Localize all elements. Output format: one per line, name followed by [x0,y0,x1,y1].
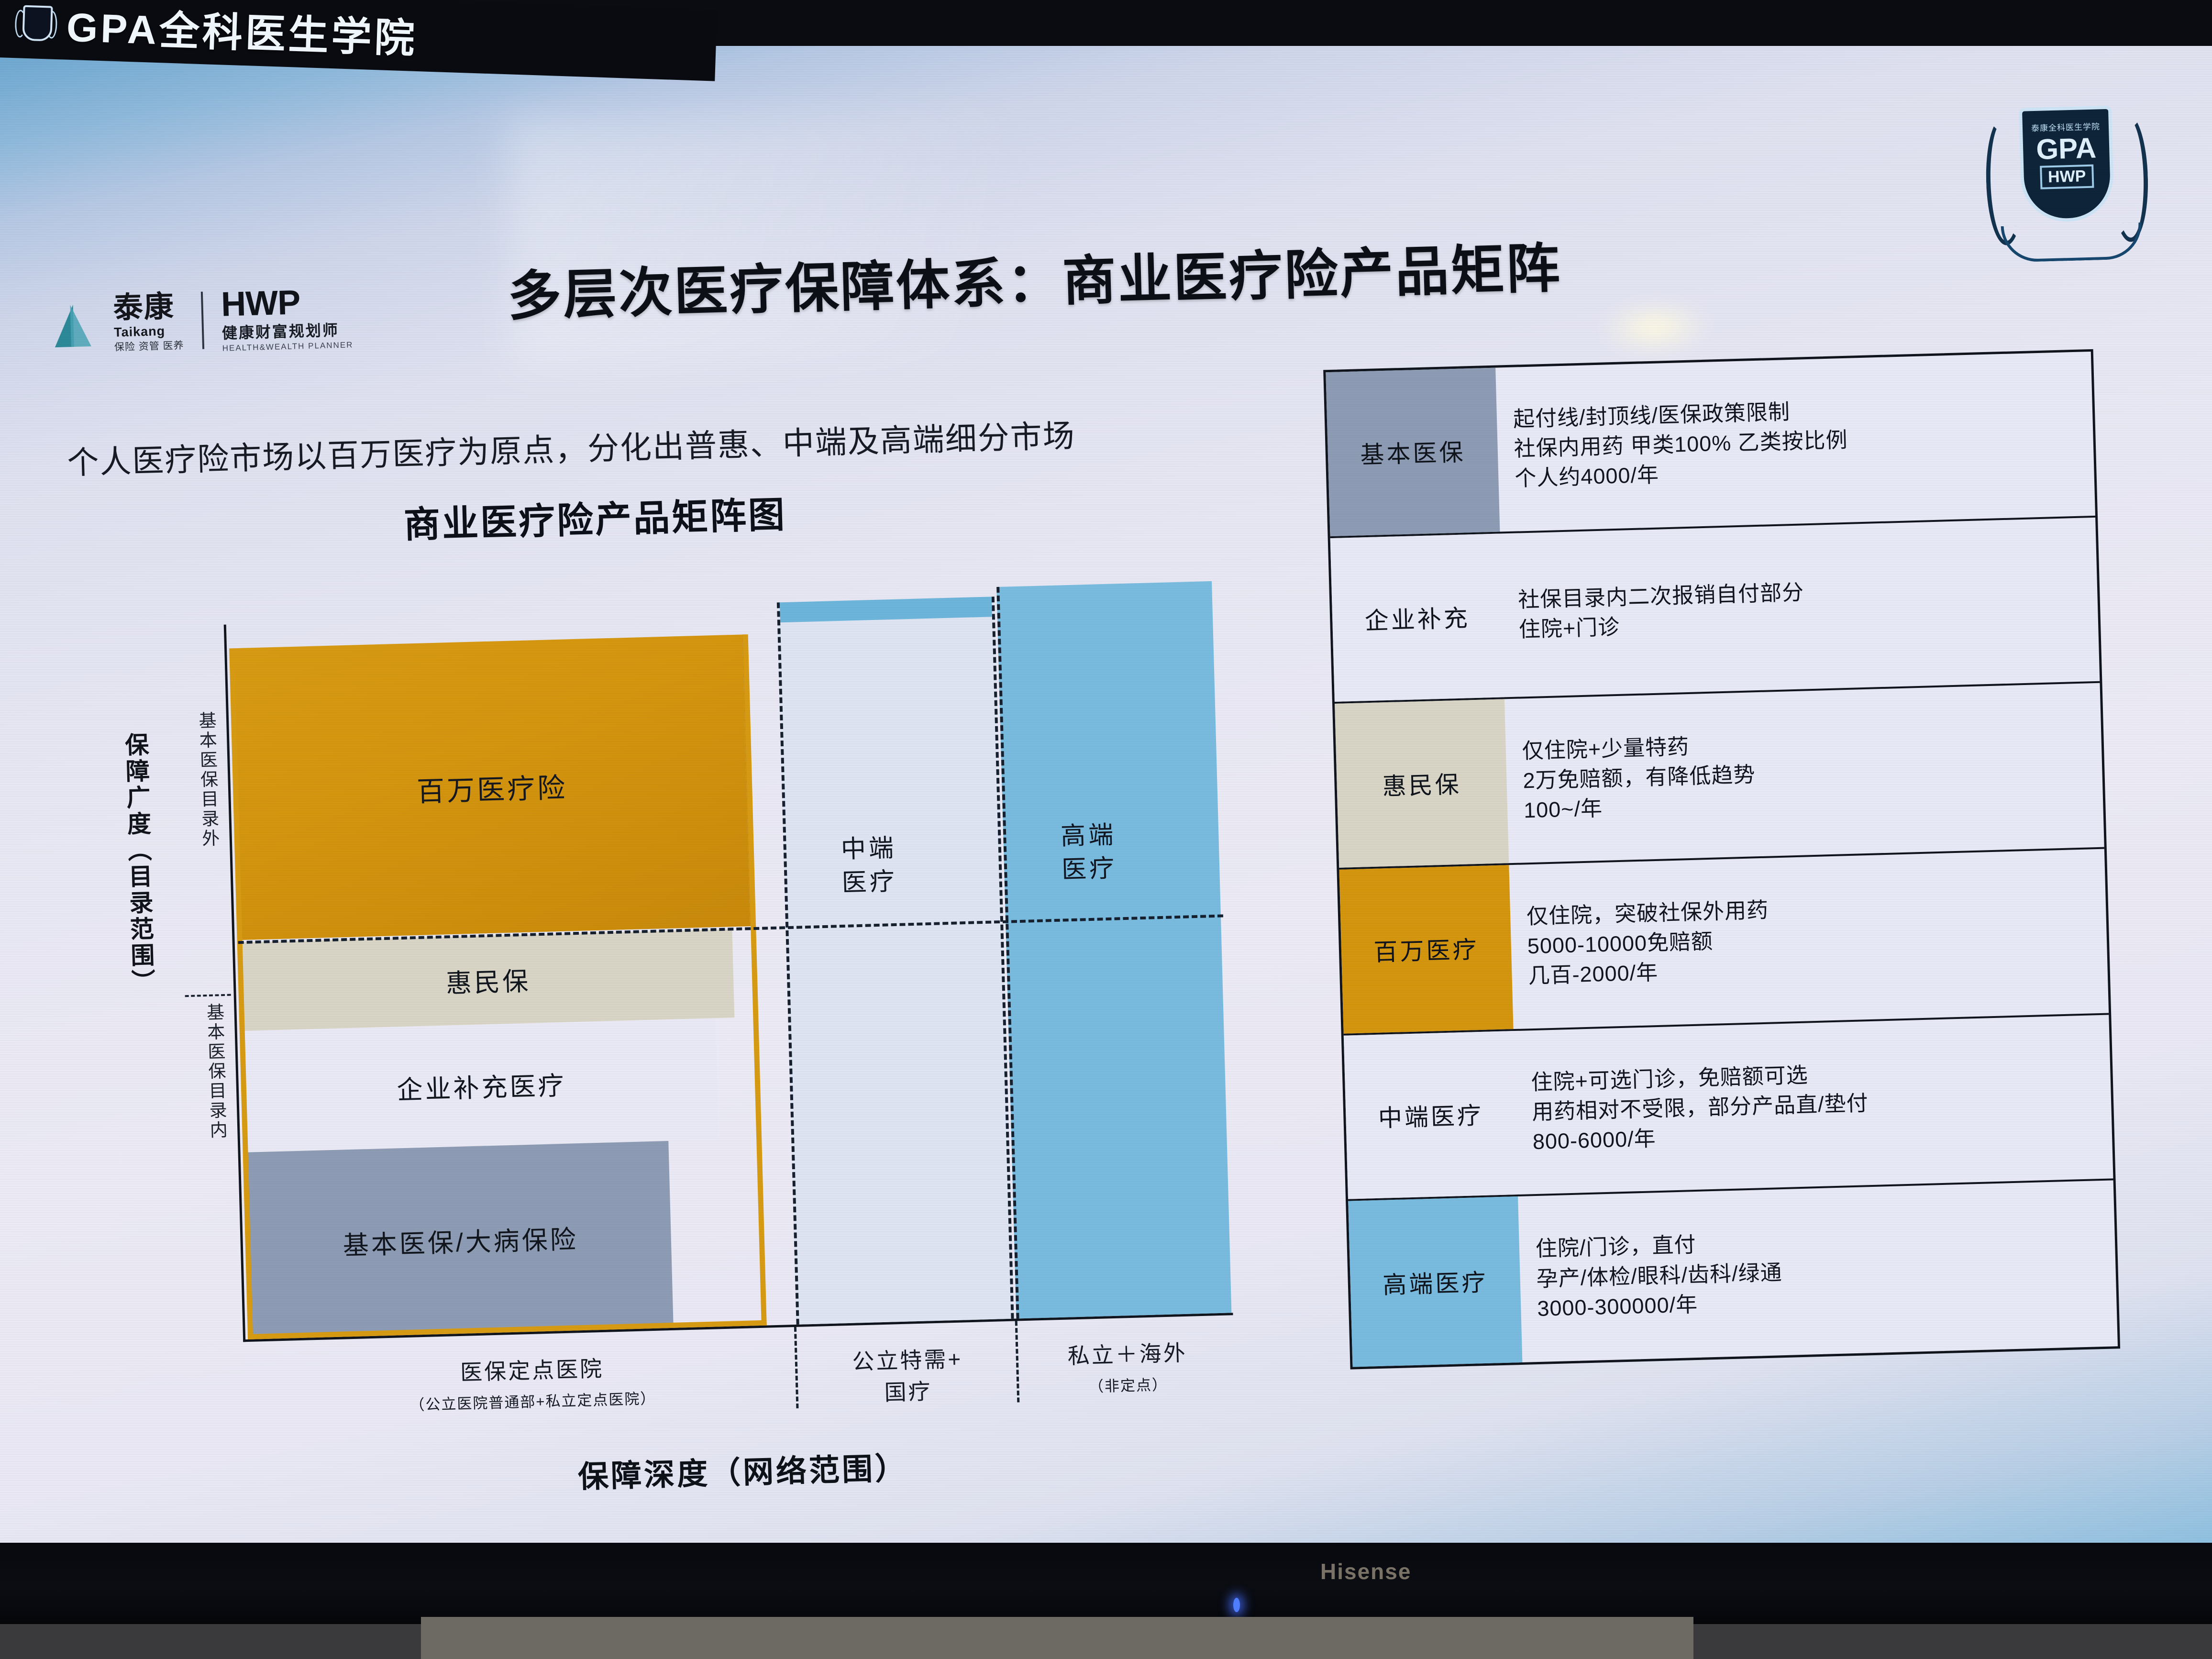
table-row: 中端医疗住院+可选门诊，免赔额可选用药相对不受限，部分产品直/垫付800-600… [1344,1015,2113,1201]
chart-block-basic-insurance: 基本医保/大病保险 [248,1141,674,1339]
chart-column-midtier [777,597,1014,1325]
chart-block-million-medical-label: 百万医疗险 [416,765,568,809]
slide-content: 泰康 Taikang 保险 资管 医养 HWP 健康财富规划师 HEALTH&W… [0,46,2212,1543]
projector-hotspot [1599,298,1710,358]
chart-label-hightier: 高端 医疗 [1060,818,1117,886]
taikang-tagline: 保险 资管 医养 [114,340,184,352]
table-row-description: 仅住院+少量特药2万免赔额，有降低趋势100~/年 [1504,683,2104,863]
table-row: 百万医疗仅住院，突破社保外用药5000-10000免赔额几百-2000/年 [1339,849,2109,1036]
table-row-category: 基本医保 [1326,368,1500,536]
x-axis-tick-1-line1: 医保定点医院 [350,1349,714,1390]
chart-label-midtier-line2: 医疗 [841,865,898,900]
table-row: 企业补充社保目录内二次报销自付部分住院+门诊 [1330,518,2100,704]
table-row-description: 仅住院，突破社保外用药5000-10000免赔额几百-2000/年 [1509,849,2109,1029]
y-axis-tick-outside: 基本医保目录外 [193,711,222,849]
chart-block-basic-insurance-label: 基本医保/大病保险 [343,1218,579,1262]
taikang-name-en: Taikang [114,324,184,339]
taikang-wordmark: 泰康 Taikang 保险 资管 医养 [113,291,184,352]
product-comparison-table: 基本医保起付线/封顶线/医保政策限制社保内用药 甲类100% 乙类按比例个人约4… [1323,349,2120,1370]
gpa-shield-icon: 泰康全科医生学院 GPA HWP [1981,94,2153,271]
taikang-name-cn: 泰康 [113,291,183,323]
shield-mid-text: HWP [2040,165,2094,189]
chart-column-hightier [996,581,1231,1319]
logo-divider [201,292,204,349]
x-axis-tick-1: 医保定点医院 （公立医院普通部+私立定点医院） [350,1349,715,1416]
chart-block-huiminbao-label: 惠民保 [445,960,531,1000]
banner-text: GPA全科医生学院 [66,0,418,64]
banner-crest-icon [15,2,57,44]
y-axis-tick-inside: 基本医保目录内 [200,1003,230,1140]
x-axis-tick-1-line2: （公立医院普通部+私立定点医院） [351,1385,715,1416]
table-row-category: 惠民保 [1335,699,1509,868]
table-row-description: 住院/门诊，直付孕产/体检/眼科/齿科/绿通3000-300000/年 [1518,1181,2118,1362]
slide-subtitle: 个人医疗险市场以百万医疗为原点，分化出普惠、中端及高端细分市场 [66,405,1263,484]
hwp-abbr: HWP [221,284,353,321]
x-axis-title: 保障深度（网络范围） [577,1444,908,1497]
shield-top-text: 泰康全科医生学院 [2031,120,2101,133]
hwp-name-en: HEALTH&WEALTH PLANNER [222,341,354,352]
x-axis-tick-2: 公立特需+ 国疗 [804,1340,1011,1409]
table-row-category: 百万医疗 [1339,865,1513,1033]
chart-block-enterprise-supplement-label: 企业补充医疗 [396,1064,566,1106]
tv-brand-logo: Hisense [1320,1559,1411,1584]
shield-body: 泰康全科医生学院 GPA HWP [2019,106,2114,223]
y-axis-title: 保障广度（目录范围） [118,732,159,996]
chart-vertical-dashed-divider-2 [1015,1321,1020,1402]
table-row: 惠民保仅住院+少量特药2万免赔额，有降低趋势100~/年 [1335,683,2104,870]
tv-stand [421,1617,1693,1659]
table-row-description: 社保目录内二次报销自付部分住院+门诊 [1500,518,2100,697]
table-row: 高端医疗住院/门诊，直付孕产/体检/眼科/齿科/绿通3000-300000/年 [1348,1181,2118,1367]
table-row-category: 高端医疗 [1348,1196,1522,1367]
chart-label-midtier-line1: 中端 [841,831,897,866]
tv-bottom-bezel [0,1543,2212,1624]
chart-title: 商业医疗险产品矩阵图 [403,485,787,548]
table-row-category: 企业补充 [1330,533,1504,702]
matrix-chart: 保障广度（目录范围） 基本医保目录外 基本医保目录内 中端 医疗 高端 医疗 百… [104,545,1236,1398]
page-title: 多层次医疗保障体系：商业医疗险产品矩阵 [507,220,1752,331]
chart-block-million-medical: 百万医疗险 [234,634,753,940]
brand-logo-row: 泰康 Taikang 保险 资管 医养 HWP 健康财富规划师 HEALTH&W… [51,284,354,357]
power-led-icon [1233,1598,1240,1612]
taikang-mark-icon [51,300,96,347]
table-row-category: 中端医疗 [1344,1031,1518,1199]
x-axis-tick-2-line2: 国疗 [805,1372,1012,1409]
x-axis-tick-3-line2: （非定点） [1025,1371,1231,1398]
table-row-description: 起付线/封顶线/医保政策限制社保内用药 甲类100% 乙类按比例个人约4000/… [1495,352,2095,531]
chart-label-midtier: 中端 医疗 [841,831,898,900]
x-axis-tick-2-line1: 公立特需+ [804,1340,1011,1378]
table-row-description: 住院+可选门诊，免赔额可选用药相对不受限，部分产品直/垫付800-6000/年 [1514,1015,2113,1194]
y-axis-divider [185,994,231,997]
x-axis-tick-3: 私立＋海外 （非定点） [1024,1334,1231,1398]
hwp-wordmark: HWP 健康财富规划师 HEALTH&WEALTH PLANNER [221,284,353,352]
table-row: 基本医保起付线/封顶线/医保政策限制社保内用药 甲类100% 乙类按比例个人约4… [1326,352,2095,538]
shield-main-text: GPA [2036,134,2097,164]
chart-block-enterprise-supplement: 企业补充医疗 [244,1019,719,1151]
chart-label-hightier-line2: 医疗 [1061,852,1117,887]
chart-label-hightier-line1: 高端 [1060,818,1117,853]
shield-ribbon [2001,222,2143,263]
chart-vertical-dashed-divider-1 [794,1327,799,1408]
presentation-screen: 泰康 Taikang 保险 资管 医养 HWP 健康财富规划师 HEALTH&W… [0,46,2212,1543]
chart-block-huiminbao: 惠民保 [242,929,735,1031]
x-axis-tick-3-line1: 私立＋海外 [1024,1334,1231,1371]
hwp-name-cn: 健康财富规划师 [221,322,353,341]
